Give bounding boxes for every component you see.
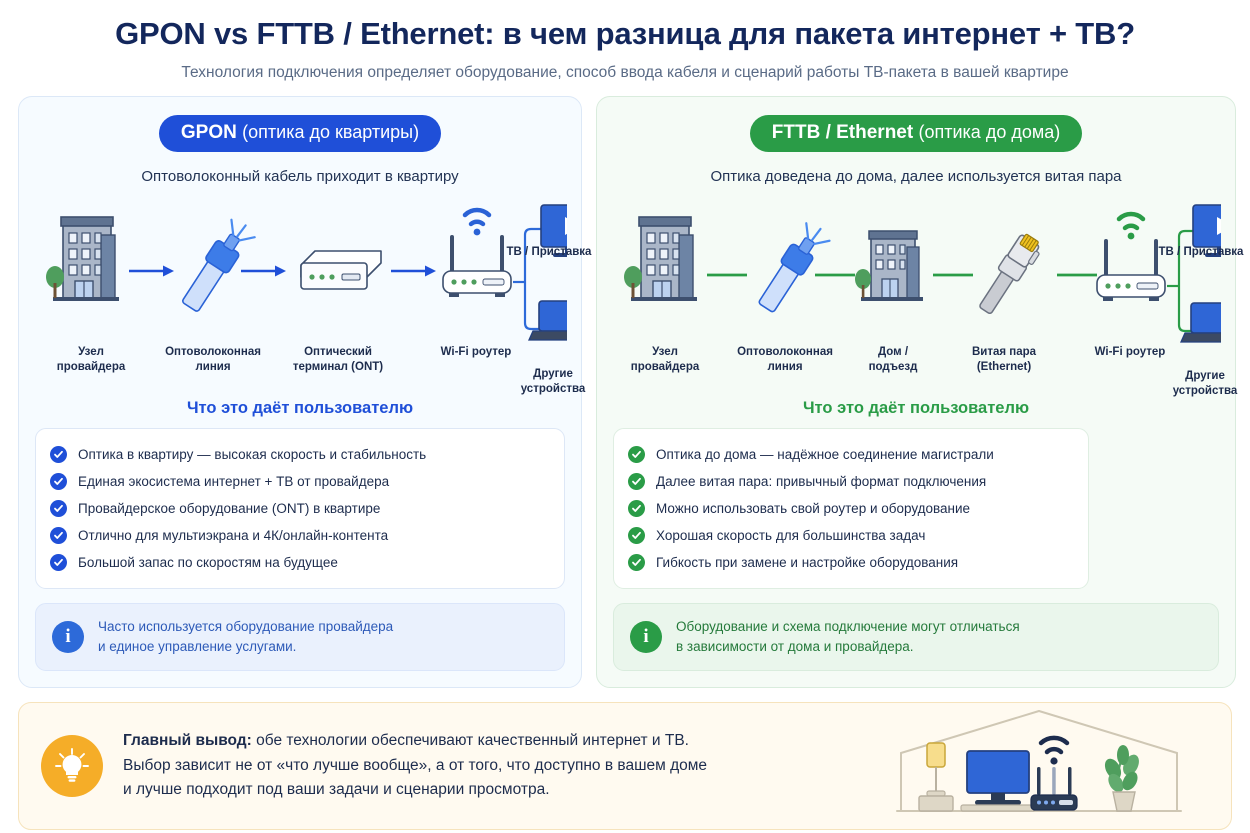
fttb-note-text: Оборудование и схема подключение могут о… [676, 617, 1020, 658]
plant-icon [1102, 745, 1142, 811]
flow-label-line: Wi-Fi роутер [1071, 345, 1189, 361]
panel-gpon-badge-strong: GPON [181, 122, 237, 143]
conclusion-text: Главный вывод: обе технологии обеспечива… [123, 729, 849, 802]
list-item: Оптика до дома — надёжное соединение маг… [628, 441, 1074, 468]
note-line: в зависимости от дома и провайдера. [676, 639, 914, 654]
flow-label-other-devices: Другие устройства [1153, 369, 1250, 400]
check-icon [628, 527, 645, 544]
panel-gpon: GPON (оптика до квартиры) Оптоволоконный… [18, 96, 582, 688]
list-item: Далее витая пара: привычный формат подкл… [628, 468, 1074, 495]
flow-label-line: Другие [1153, 369, 1250, 385]
gpon-benefits-list: Оптика в квартиру — высокая скорость и с… [35, 428, 565, 589]
note-line: Оборудование и схема подключение могут о… [676, 619, 1020, 634]
check-icon [50, 446, 67, 463]
wifi-router-icon [1031, 738, 1077, 810]
info-icon: i [52, 621, 84, 653]
gpon-note-text: Часто используется оборудование провайде… [98, 617, 393, 658]
flow-label-line: Узел [41, 345, 141, 361]
conclusion-banner: Главный вывод: обе технологии обеспечива… [18, 702, 1232, 830]
flow-label-house: Дом / подъезд [845, 345, 941, 376]
flow-label-line: терминал (ONT) [275, 360, 401, 376]
fttb-benefits-list: Оптика до дома — надёжное соединение маг… [613, 428, 1089, 589]
flow-label-router: Wi-Fi роутер [1071, 345, 1189, 361]
gpon-flow-svg [35, 199, 567, 367]
flow-label-ont: Оптический терминал (ONT) [275, 345, 401, 376]
benefit-text: Единая экосистема интернет + ТВ от прова… [78, 474, 389, 489]
panel-gpon-badge: GPON (оптика до квартиры) [159, 115, 441, 152]
check-icon [50, 500, 67, 517]
flow-arrow [391, 265, 436, 276]
flow-label-fiber: Оптоволоконная линия [725, 345, 845, 376]
note-line: и единое управление услугами. [98, 639, 296, 654]
flow-label-line: Узел [617, 345, 713, 361]
home-interior-illustration [869, 707, 1209, 829]
benefit-text: Отлично для мультиэкрана и 4К/онлайн-кон… [78, 528, 388, 543]
benefit-text: Оптика до дома — надёжное соединение маг… [656, 447, 994, 462]
check-icon [50, 554, 67, 571]
flow-label-line: (Ethernet) [949, 360, 1059, 376]
flow-label-line: Другие [501, 367, 605, 383]
fttb-note: i Оборудование и схема подключение могут… [613, 603, 1219, 672]
flow-label-line: Оптоволоконная [153, 345, 273, 361]
list-item: Оптика в квартиру — высокая скорость и с… [50, 441, 550, 468]
benefit-text: Можно использовать свой роутер и оборудо… [656, 501, 970, 516]
flow-label-node: Узел провайдера [41, 345, 141, 376]
flow-label-line: ТВ / Приставка [487, 245, 611, 261]
list-item: Отлично для мультиэкрана и 4К/онлайн-кон… [50, 522, 550, 549]
list-item: Хорошая скорость для большинства задач [628, 522, 1074, 549]
flow-label-twisted-pair: Витая пара (Ethernet) [949, 345, 1059, 376]
fiber-optic-connector-icon [178, 216, 257, 315]
flow-label-line: устройства [1153, 384, 1250, 400]
check-icon [50, 527, 67, 544]
flow-label-tv: ТВ / Приставка [1139, 245, 1250, 261]
flow-label-line: Оптический [275, 345, 401, 361]
flow-label-router: Wi-Fi роутер [417, 345, 535, 361]
ont-terminal-icon [301, 251, 381, 289]
fttb-benefits-title: Что это даёт пользователю [613, 399, 1219, 418]
flow-label-line: линия [725, 360, 845, 376]
office-building-icon [46, 217, 119, 301]
infographic-page: GPON vs FTTB / Ethernet: в чем разница д… [0, 0, 1250, 833]
check-icon [628, 500, 645, 517]
lightbulb-icon [41, 735, 103, 797]
fttb-flow-labels: Узел провайдера Оптоволоконная линия Дом… [613, 345, 1219, 389]
tv-icon [961, 751, 1035, 811]
comparison-panels: GPON (оптика до квартиры) Оптоволоконный… [0, 82, 1250, 688]
panel-gpon-subtitle: Оптоволоконный кабель приходит в квартир… [35, 168, 565, 185]
gpon-flow-labels: Узел провайдера Оптоволоконная линия Опт… [35, 345, 565, 389]
flow-label-tv: ТВ / Приставка [487, 245, 611, 261]
panel-fttb-badge-normal: (оптика до дома) [918, 122, 1060, 142]
check-icon [628, 473, 645, 490]
rj45-connector-icon [975, 231, 1045, 319]
flow-label-line: Wi-Fi роутер [417, 345, 535, 361]
flow-label-line: ТВ / Приставка [1139, 245, 1250, 261]
flow-label-line: устройства [501, 382, 605, 398]
panel-fttb-subtitle: Оптика доведена до дома, далее используе… [613, 168, 1219, 185]
apartment-building-icon [855, 231, 923, 301]
check-icon [628, 554, 645, 571]
check-icon [50, 473, 67, 490]
conclusion-lead: Главный вывод: [123, 732, 252, 749]
conclusion-line1-rest: обе технологии обеспечивают качественный… [252, 732, 689, 749]
list-item: Большой запас по скоростям на будущее [50, 549, 550, 576]
flow-label-line: Витая пара [949, 345, 1059, 361]
office-building-icon [624, 217, 697, 301]
panel-fttb-diagram [613, 199, 1219, 367]
benefit-text: Большой запас по скоростям на будущее [78, 555, 338, 570]
flow-label-line: Дом / [845, 345, 941, 361]
benefit-text: Далее витая пара: привычный формат подкл… [656, 474, 986, 489]
page-title: GPON vs FTTB / Ethernet: в чем разница д… [0, 16, 1250, 52]
home-interior-icon [889, 707, 1189, 829]
flow-label-line: подъезд [845, 360, 941, 376]
panel-gpon-badge-normal: (оптика до квартиры) [242, 122, 419, 142]
flow-label-line: провайдера [41, 360, 141, 376]
check-icon [628, 446, 645, 463]
flow-label-fiber: Оптоволоконная линия [153, 345, 273, 376]
gpon-benefits-title: Что это даёт пользователю [35, 399, 565, 418]
gpon-note: i Часто используется оборудование провай… [35, 603, 565, 672]
laptop-phone-icon [1181, 303, 1221, 342]
conclusion-line2: Выбор зависит не от «что лучше вообще», … [123, 757, 707, 774]
flow-arrow [129, 265, 174, 276]
panel-fttb: FTTB / Ethernet (оптика до дома) Оптика … [596, 96, 1236, 688]
panel-fttb-badge-strong: FTTB / Ethernet [772, 122, 913, 143]
flow-label-other-devices: Другие устройства [501, 367, 605, 398]
benefit-text: Оптика в квартиру — высокая скорость и с… [78, 447, 426, 462]
split-connector [513, 229, 541, 329]
benefit-text: Гибкость при замене и настройке оборудов… [656, 555, 958, 570]
note-line: Часто используется оборудование провайде… [98, 619, 393, 634]
page-subtitle: Технология подключения определяет оборуд… [0, 64, 1250, 82]
list-item: Можно использовать свой роутер и оборудо… [628, 495, 1074, 522]
flow-label-line: Оптоволоконная [725, 345, 845, 361]
flow-label-line: линия [153, 360, 273, 376]
benefit-text: Хорошая скорость для большинства задач [656, 528, 925, 543]
flow-label-node: Узел провайдера [617, 345, 713, 376]
fiber-optic-connector-icon [755, 220, 832, 317]
list-item: Провайдерское оборудование (ONT) в кварт… [50, 495, 550, 522]
flow-arrow [241, 265, 286, 276]
page-header: GPON vs FTTB / Ethernet: в чем разница д… [0, 0, 1250, 82]
benefit-text: Провайдерское оборудование (ONT) в кварт… [78, 501, 380, 516]
list-item: Единая экосистема интернет + ТВ от прова… [50, 468, 550, 495]
flow-label-line: провайдера [617, 360, 713, 376]
panel-gpon-diagram [35, 199, 565, 367]
fttb-flow-svg [613, 199, 1221, 367]
info-icon: i [630, 621, 662, 653]
conclusion-line3: и лучше подходит под ваши задачи и сцена… [123, 781, 550, 798]
list-item: Гибкость при замене и настройке оборудов… [628, 549, 1074, 576]
panel-fttb-badge: FTTB / Ethernet (оптика до дома) [750, 115, 1082, 152]
lamp-icon [919, 743, 953, 811]
laptop-phone-icon [529, 301, 567, 340]
